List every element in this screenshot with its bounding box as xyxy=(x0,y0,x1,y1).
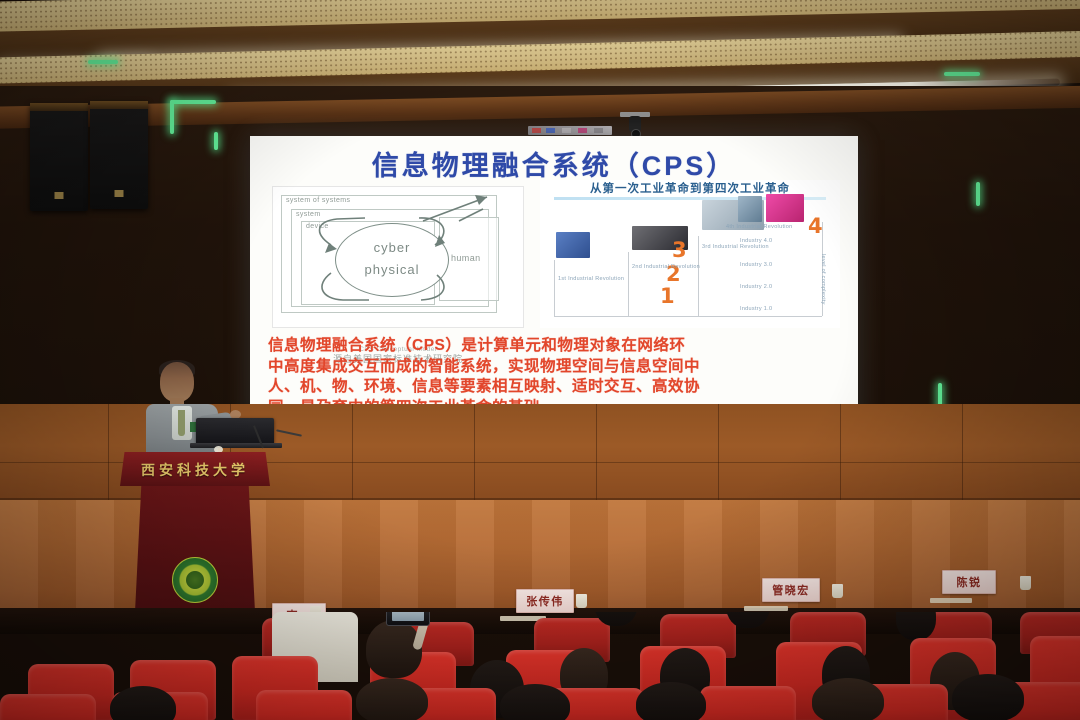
chart-tick-industry-3: Industry 3.0 xyxy=(740,262,772,268)
name-card: 张传伟 xyxy=(516,589,574,613)
indicator-icon xyxy=(532,128,541,133)
indicator-icon xyxy=(546,128,555,133)
paper-cup xyxy=(1020,576,1031,590)
audience-member xyxy=(636,682,706,720)
paper-cup xyxy=(576,594,587,608)
indicator-icon xyxy=(594,128,603,133)
loudspeaker-cabinet xyxy=(30,103,88,211)
loudspeaker-cabinet xyxy=(90,101,148,209)
audience-member xyxy=(500,684,570,720)
audience-member xyxy=(356,678,428,720)
laptop-base xyxy=(190,443,282,448)
accent-light-icon xyxy=(976,182,980,206)
indicator-icon xyxy=(578,128,587,133)
stage-number-3: 3 xyxy=(672,238,687,262)
body-line-2: 中高度集成交互而成的智能系统，实现物理空间与信息空间中 xyxy=(268,357,840,378)
audience-seating xyxy=(0,612,1080,720)
chart-tick-industry-1: Industry 1.0 xyxy=(740,306,772,312)
audience-member xyxy=(952,674,1024,720)
chart-stage-label-3: 3rd Industrial Revolution xyxy=(702,244,769,250)
accent-light-icon xyxy=(170,100,174,134)
slide-title: 信息物理融合系统（CPS） xyxy=(250,144,858,183)
chart-axis-x xyxy=(554,316,822,317)
accent-light-icon xyxy=(214,132,218,150)
cps-conceptual-diagram: system of systems system device human cy… xyxy=(272,186,524,328)
projection-screen: 信息物理融合系统（CPS） system of systems system d… xyxy=(250,136,858,426)
paper-cup xyxy=(832,584,843,598)
chart-tick-industry-4: Industry 4.0 xyxy=(740,238,772,244)
speaker-bracket xyxy=(90,101,148,109)
body-line-3: 人、机、物、环境、信息等要素相互映射、适时交互、高效协 xyxy=(268,377,840,398)
auditorium-scene: 信息物理融合系统（CPS） system of systems system d… xyxy=(0,0,1080,720)
name-card: 管晓宏 xyxy=(762,578,820,602)
chart-photo-robot xyxy=(738,196,762,222)
seat xyxy=(256,690,352,720)
speaker-badge-icon xyxy=(55,192,64,199)
speaker-bracket xyxy=(30,103,88,111)
document-sheet xyxy=(744,606,788,611)
accent-light-icon xyxy=(170,100,216,104)
accent-light-icon xyxy=(88,60,118,64)
presenter-tie xyxy=(178,410,185,436)
chart-axis-2 xyxy=(628,252,629,316)
presenter-laptop xyxy=(196,418,274,444)
projector-control-strip xyxy=(528,126,612,135)
diagram-arrows xyxy=(273,187,523,327)
stage-number-4: 4 xyxy=(808,214,823,238)
seat xyxy=(0,694,96,720)
chart-tick-industry-2: Industry 2.0 xyxy=(740,284,772,290)
chart-y-axis-label: level of complexity xyxy=(820,254,826,305)
name-card: 陈锐 xyxy=(942,570,996,594)
chart-axis-1 xyxy=(554,260,555,316)
presenter xyxy=(146,362,220,466)
podium: 西安科技大学 xyxy=(120,452,270,632)
audience-member-photographer xyxy=(366,620,422,678)
presenter-head xyxy=(160,362,194,402)
smartphone xyxy=(386,612,430,626)
slide-content: 信息物理融合系统（CPS） system of systems system d… xyxy=(250,136,858,426)
seat xyxy=(700,686,796,720)
chart-axis-3 xyxy=(698,236,699,316)
podium-inscription: 西安科技大学 xyxy=(120,460,270,480)
university-crest-icon xyxy=(172,557,218,603)
chart-stage-label-4: 4th Industrial Revolution xyxy=(726,224,793,230)
ceiling xyxy=(0,0,1080,96)
speaker-badge-icon xyxy=(115,190,124,197)
chart-stage-label-1: 1st Industrial Revolution xyxy=(558,276,624,282)
chart-photo-smart-factory xyxy=(766,194,804,222)
indicator-icon xyxy=(562,128,571,133)
document-sheet xyxy=(930,598,972,603)
audience-member xyxy=(812,678,884,720)
podium-top: 西安科技大学 xyxy=(120,452,270,486)
stage-number-1: 1 xyxy=(660,284,675,308)
chart-stage-label-2: 2nd Industrial Revolution xyxy=(632,264,700,270)
chart-photo-steam-engine xyxy=(556,232,590,258)
body-line-1: 信息物理融合系统（CPS）是计算单元和物理对象在网络环 xyxy=(268,336,840,357)
accent-light-icon xyxy=(944,72,980,76)
industrial-revolution-chart: 从第一次工业革命到第四次工业革命 1 2 3 4 1st Industrial … xyxy=(540,180,840,328)
